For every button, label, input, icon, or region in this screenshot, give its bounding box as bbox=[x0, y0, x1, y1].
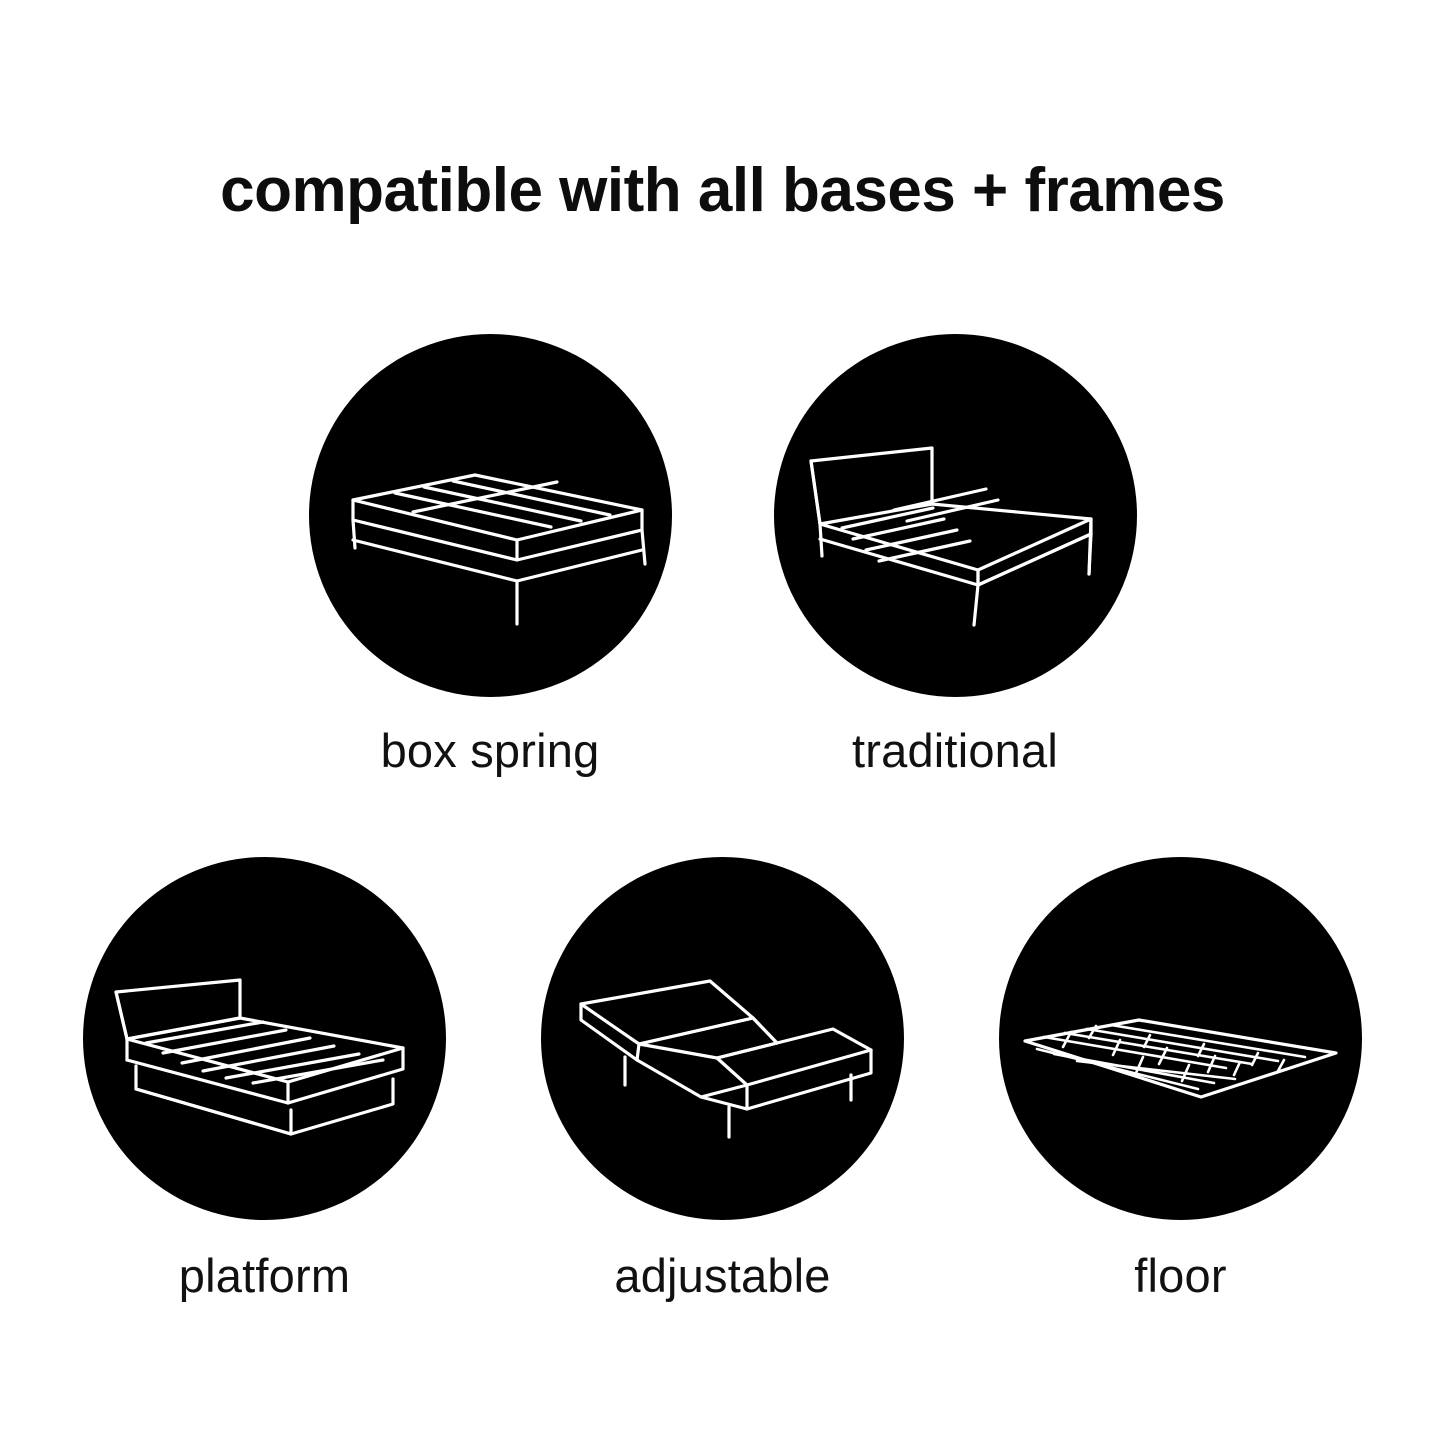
platform-disc bbox=[83, 857, 446, 1220]
base-row-bottom: platform bbox=[0, 857, 1445, 1302]
page-title: compatible with all bases + frames bbox=[0, 158, 1445, 223]
base-tile-traditional[interactable]: traditional bbox=[774, 334, 1137, 777]
base-label-platform: platform bbox=[179, 1250, 350, 1302]
box-spring-disc bbox=[309, 334, 672, 697]
base-tile-box-spring[interactable]: box spring bbox=[309, 334, 672, 777]
base-label-adjustable: adjustable bbox=[614, 1250, 830, 1302]
base-tile-adjustable[interactable]: adjustable bbox=[541, 857, 904, 1302]
floor-icon bbox=[999, 857, 1362, 1220]
base-row-top: box spring bbox=[0, 334, 1445, 777]
base-tile-platform[interactable]: platform bbox=[83, 857, 446, 1302]
base-label-traditional: traditional bbox=[852, 725, 1058, 777]
infographic-canvas: compatible with all bases + frames bbox=[0, 0, 1445, 1445]
base-label-floor: floor bbox=[1134, 1250, 1226, 1302]
adjustable-base-icon bbox=[541, 857, 904, 1220]
box-spring-bed-icon bbox=[309, 334, 672, 697]
platform-bed-icon bbox=[83, 857, 446, 1220]
floor-disc bbox=[999, 857, 1362, 1220]
traditional-disc bbox=[774, 334, 1137, 697]
adjustable-disc bbox=[541, 857, 904, 1220]
base-tile-floor[interactable]: floor bbox=[999, 857, 1362, 1302]
base-label-box-spring: box spring bbox=[381, 725, 600, 777]
traditional-bed-frame-icon bbox=[774, 334, 1137, 697]
